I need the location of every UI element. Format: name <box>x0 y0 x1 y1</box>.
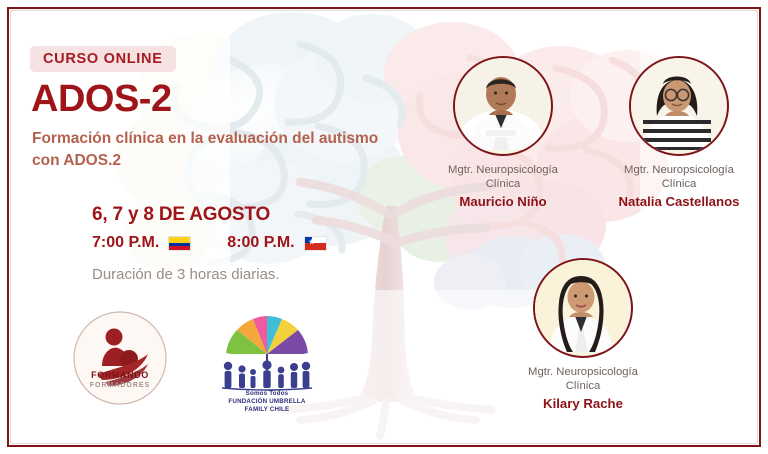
presenter-name: Kilary Rache <box>498 396 668 411</box>
presenter-card-natalia-castellanos: Mgtr. Neuropsicología Clínica Natalia Ca… <box>594 56 764 209</box>
course-times: 7:00 P.M. 8:00 P.M. ★ <box>92 234 327 252</box>
presenter-role-line1: Mgtr. Neuropsicología <box>498 365 668 379</box>
sponsor-logos: FORMANDO FORMADORES <box>72 310 322 410</box>
page-title: ADOS-2 <box>31 80 172 118</box>
presenter-role: Mgtr. Neuropsicología Clínica <box>594 163 764 192</box>
presenter-card-mauricio-nino: Mgtr. Neuropsicología Clínica Mauricio N… <box>418 56 588 209</box>
presenter-avatar <box>629 56 729 156</box>
course-online-badge: CURSO ONLINE <box>30 46 176 72</box>
formando-formadores-line1: FORMANDO <box>72 370 168 381</box>
presenter-role: Mgtr. Neuropsicología Clínica <box>498 365 668 394</box>
presenter-avatar <box>533 258 633 358</box>
course-duration: Duración de 3 horas diarias. <box>92 266 280 283</box>
presenter-role-line2: Clínica <box>498 379 668 393</box>
presenter-name: Natalia Castellanos <box>594 194 764 209</box>
presenter-role-line2: Clínica <box>418 177 588 191</box>
presenter-role-line2: Clínica <box>594 177 764 191</box>
presenter-role: Mgtr. Neuropsicología Clínica <box>418 163 588 192</box>
course-poster: CURSO ONLINE ADOS-2 Formación clínica en… <box>0 0 768 454</box>
umbrella-line1: FUNDACIÓN UMBRELLA <box>212 398 322 406</box>
formando-formadores-logo: FORMANDO FORMADORES <box>72 310 168 406</box>
time-colombia: 7:00 P.M. <box>92 234 159 252</box>
presenter-card-kilary-rache: Mgtr. Neuropsicología Clínica Kilary Rac… <box>498 258 668 411</box>
umbrella-line2: FAMILY CHILE <box>212 406 322 414</box>
presenter-name: Mauricio Niño <box>418 194 588 209</box>
presenter-role-line1: Mgtr. Neuropsicología <box>594 163 764 177</box>
presenter-avatar <box>453 56 553 156</box>
course-dates: 6, 7 y 8 DE AGOSTO <box>92 204 270 226</box>
umbrella-tagline: Somos Todos <box>212 390 322 398</box>
formando-formadores-line2: FORMADORES <box>72 382 168 391</box>
time-chile: 8:00 P.M. <box>227 234 294 252</box>
umbrella-family-logo: Somos Todos FUNDACIÓN UMBRELLA FAMILY CH… <box>212 310 322 410</box>
chile-flag-icon: ★ <box>304 236 327 251</box>
colombia-flag-icon <box>168 236 191 251</box>
presenter-role-line1: Mgtr. Neuropsicología <box>418 163 588 177</box>
course-subtitle: Formación clínica en la evaluación del a… <box>32 128 382 172</box>
